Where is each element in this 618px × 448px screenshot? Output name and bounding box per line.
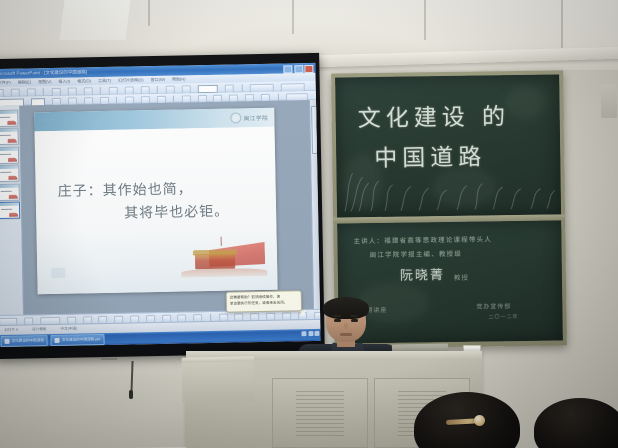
toolbar-separator <box>277 93 278 100</box>
blackboard-title-line-1: 文化建设 的 <box>357 97 510 133</box>
slide-quote-line-2: 其将毕也必钜。 <box>124 201 229 223</box>
slide-thumbnail[interactable] <box>0 109 18 126</box>
toolbar-separator <box>157 85 158 92</box>
menu-item-tools[interactable]: 工具(T) <box>98 78 111 84</box>
slide-thumbnail[interactable] <box>0 165 19 182</box>
toolbar-separator <box>241 84 242 91</box>
wall-seam <box>561 0 563 48</box>
assistant-line-1: 您需要帮助？若须继续操作，请 <box>230 294 298 301</box>
slide-watermark-box <box>51 268 65 278</box>
assistant-line-2: 单击要执行的任务，或者单击关闭。 <box>230 301 298 308</box>
menu-item-window[interactable]: 窗口(W) <box>151 77 166 83</box>
status-slide-number: 幻灯片 6 <box>4 328 18 333</box>
projected-desktop: Microsoft PowerPoint - [文化建设的中国道路] 文件(F)… <box>0 63 321 347</box>
chalk-smudge <box>505 85 545 120</box>
flag-pole-icon <box>221 237 222 246</box>
thumb-text-line <box>0 172 11 173</box>
status-design-template: 设计模板 <box>32 327 46 332</box>
thumb-banner <box>0 184 18 187</box>
slide-thumbnail[interactable] <box>0 146 19 163</box>
hair-clip-gem-icon <box>474 415 485 426</box>
speaker-eyebrow-right <box>350 315 358 317</box>
speaker-mouth <box>340 333 352 336</box>
toolbar-separator <box>173 95 174 102</box>
projection-screen: Microsoft PowerPoint - [文化建设的中国道路] 文件(F)… <box>0 53 325 359</box>
slide-content-area: 庄子：其作始也简， 其将毕也必钜。 <box>35 127 278 295</box>
seal-icon <box>230 112 241 123</box>
toolbar-separator <box>100 87 101 94</box>
close-icon[interactable] <box>304 65 313 73</box>
ceiling-light <box>60 0 131 40</box>
slide-thumbnail[interactable] <box>0 183 19 200</box>
menu-item-file[interactable]: 文件(F) <box>0 80 11 86</box>
minimize-icon[interactable] <box>283 65 292 73</box>
slide-thumbnail-selected[interactable] <box>0 202 20 219</box>
thumb-banner <box>0 129 17 132</box>
thumb-artwork <box>9 213 18 217</box>
menu-item-format[interactable]: 格式(O) <box>77 78 91 84</box>
window-icon <box>5 338 10 343</box>
slide-thumbnail[interactable] <box>0 128 18 145</box>
menu-item-insert[interactable]: 插入(I) <box>58 79 70 85</box>
taskbar-item-label: 文化建设的中国道路.ppt <box>62 337 100 343</box>
toolbar-separator <box>210 313 211 320</box>
thumb-text-line <box>0 190 11 191</box>
office-assistant-balloon[interactable]: 您需要帮助？若须继续操作，请 单击要执行的任务，或者单击关闭。 <box>226 290 302 312</box>
slide-thumbnail-panel[interactable] <box>0 106 24 325</box>
university-logo-text: 闽江学院 <box>243 113 268 121</box>
side-desk <box>182 357 255 402</box>
blackboard-speaker-title: 教授 <box>454 272 469 282</box>
thumb-banner <box>0 147 17 150</box>
gate-base-icon <box>181 268 267 278</box>
wall-fixture <box>601 84 617 118</box>
wall-seam <box>148 0 150 26</box>
speaker-hair <box>323 297 369 319</box>
toolbar-separator <box>43 88 44 95</box>
wall-seam <box>424 0 426 40</box>
thumb-text-line <box>0 116 10 117</box>
restore-icon[interactable] <box>294 65 303 73</box>
menu-item-view[interactable]: 视图(V) <box>38 79 51 85</box>
menu-item-slideshow[interactable]: 幻灯片放映(D) <box>118 77 144 83</box>
podium-vent <box>296 391 344 437</box>
taskbar-item[interactable]: 文化建设的中国道路 <box>0 335 48 347</box>
thumb-artwork <box>7 120 16 124</box>
thumb-banner <box>0 203 18 206</box>
blackboard-subtitle-line-1: 主讲人：福建省高等思政理论课程带头人 <box>353 233 492 245</box>
taskbar-item-label: 文化建设的中国道路 <box>12 338 44 344</box>
slide-quote-line-1: 庄子：其作始也简， <box>57 178 192 201</box>
blackboard-speaker-name: 阮晓菁 <box>400 264 445 284</box>
status-language: 中文(中国) <box>60 327 77 332</box>
blackboard-subtitle-line-2: 闽江学院学报主编、教授级 <box>370 248 463 259</box>
thumb-banner <box>0 110 17 113</box>
speaker-eye-right <box>351 319 358 322</box>
toolbar-separator <box>116 96 117 103</box>
speaker-nose <box>344 323 348 329</box>
taskbar-item[interactable]: 文化建设的中国道路.ppt <box>51 334 105 346</box>
podium-door <box>272 378 368 448</box>
hanging-cord-tip <box>129 390 133 399</box>
powerpoint-icon <box>55 337 60 342</box>
slide-banner-marker: ····· <box>42 117 54 122</box>
thumb-banner <box>0 166 18 169</box>
thumb-artwork <box>8 176 17 180</box>
blackboard-upper-panel: 文化建设 的 中国道路 <box>335 74 561 217</box>
current-slide[interactable]: ····· 闽江学院 庄子：其作始也简， 其将毕也必钜。 <box>34 108 277 295</box>
wall-seam <box>292 0 294 34</box>
wall-notch <box>101 358 117 360</box>
university-logo: 闽江学院 <box>230 112 268 124</box>
menu-item-help[interactable]: 帮助(H) <box>172 76 186 82</box>
tiananmen-artwork <box>181 242 268 278</box>
speaker-eyebrow-left <box>333 315 341 317</box>
thumb-text-line <box>1 209 12 210</box>
thumb-text-line <box>0 135 10 136</box>
lecture-hall-photo: Microsoft PowerPoint - [文化建设的中国道路] 文件(F)… <box>0 0 618 448</box>
thumb-artwork <box>8 194 17 198</box>
blackboard-bottom-right-2: 二〇一二年 <box>488 313 518 320</box>
thumb-artwork <box>8 157 17 161</box>
speaker-eye-left <box>334 319 341 322</box>
blackboard-bottom-right-1: 党办宣传部 <box>476 301 511 310</box>
menu-item-edit[interactable]: 编辑(E) <box>18 79 31 85</box>
gate-body-icon <box>195 254 235 270</box>
thumb-artwork <box>7 139 16 143</box>
powerpoint-title-text: Microsoft PowerPoint - [文化建设的中国道路] <box>0 69 87 77</box>
thumb-text-line <box>0 153 10 154</box>
blackboard-title-line-2: 中国道路 <box>374 137 486 173</box>
